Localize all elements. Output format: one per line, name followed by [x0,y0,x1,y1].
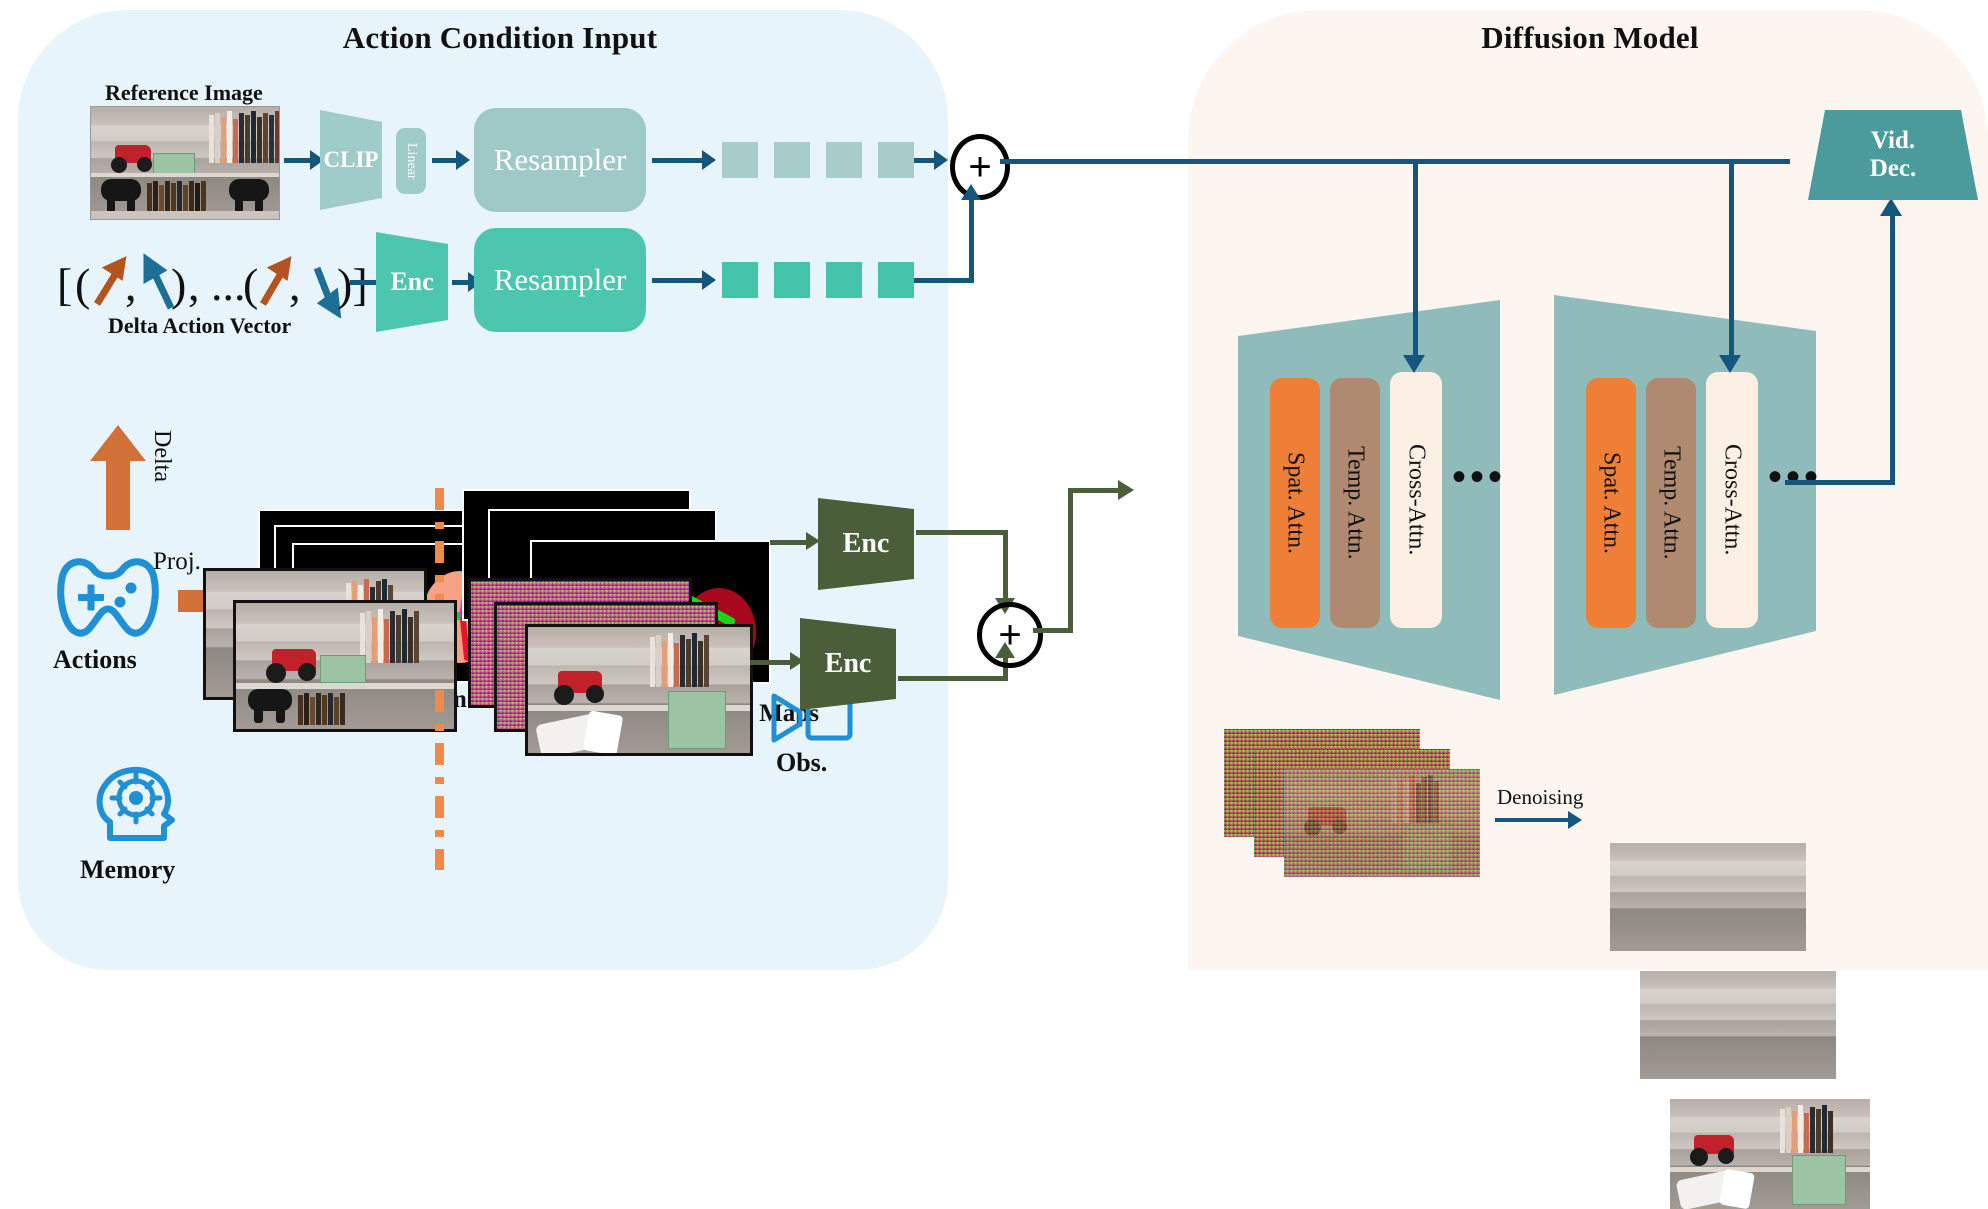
svg-text:,: , [289,259,301,310]
linear-block: Linear [396,128,426,194]
sum-to-unet-v [1068,488,1073,633]
reference-image-label: Reference Image [105,80,263,106]
delta-arrow-label: Delta [148,430,175,482]
actions-label: Actions [53,645,137,675]
arrow-raymaps-to-enc-head [806,532,820,550]
unet-to-viddec-horizontal [1785,480,1895,485]
unet-block-2-cross-attn: Cross-Attn. [1706,372,1758,628]
arrow-ref-to-clip-line [284,158,312,163]
output-robot-gripper [1719,1169,1755,1209]
denoising-arrow-line [1495,818,1571,822]
memory-icon [90,760,186,846]
image-token-3 [826,142,862,178]
delta-arrow-icon [88,425,148,530]
enc-raymaps-path-vertical [1003,530,1008,602]
spat-attn-label-2: Spat. Attn. [1598,452,1625,554]
arrow-raymaps-to-enc-line [770,540,810,545]
action-token-path-horizontal [914,278,974,283]
arrow-linear-to-resampler-line [432,158,458,163]
cond-drop-1-arrowhead [1403,355,1425,373]
enc-raymaps-block: Enc [818,498,914,590]
image-token-1 [722,142,758,178]
unet-block-1-ellipsis: ••• [1452,455,1506,500]
resampler-image-block: Resampler [474,108,646,212]
unet-block-2-ellipsis: ••• [1768,455,1822,500]
unet-block-1-cross-attn: Cross-Attn. [1390,372,1442,628]
arrow-resampler-act-to-tokens-line [652,278,704,283]
action-token-2 [774,262,810,298]
action-token-3 [826,262,862,298]
arrow-resampler-img-to-tokens-head [702,150,716,170]
reference-image-photo [90,106,280,220]
arrow-resampler-act-to-tokens-head [702,270,716,290]
gamepad-icon [48,550,168,640]
clip-label: CLIP [324,147,379,173]
denoise-input-noisy-photo [1284,769,1480,877]
svg-text:,: , [125,259,137,310]
video-decoder-block: Vid. Dec. [1808,110,1978,200]
action-encoder-block: Enc [376,232,448,332]
cond-drop-2-arrowhead [1719,355,1741,373]
panel-title-diffusion-model: Diffusion Model [1290,20,1890,56]
enc-action-label: Enc [390,267,433,297]
svg-text:(: ( [243,259,258,310]
delta-action-vector-expression: [ ( , ) , ... ( , )] [55,248,375,318]
sum-to-unet-arrowhead [1118,480,1134,500]
svg-text:(: ( [75,259,90,310]
denoising-label: Denoising [1497,785,1583,810]
enc-raymaps-path-horizontal [916,530,1008,535]
memory-photo-front [233,600,457,732]
vid-dec-line-1: Vid. [1871,127,1915,155]
arrow-resampler-img-to-tokens-line [652,158,704,163]
cond-drop-1-vertical [1413,159,1418,359]
vid-dec-line-2: Dec. [1870,155,1917,183]
denoise-output-photo-front [1670,1099,1870,1209]
enc-obs-label: Enc [825,648,872,680]
obs-label: Obs. [776,748,827,778]
cond-bus-horizontal [1000,159,1790,164]
cross-attn-label-2: Cross-Attn. [1719,444,1746,555]
memory-label: Memory [80,855,175,885]
sum-to-unet-h1 [1033,628,1073,633]
proj-label: Proj. [153,548,201,576]
svg-text:[: [ [57,259,72,310]
panel-title-action-condition-input: Action Condition Input [200,20,800,56]
unet-block-2-spat-attn: Spat. Attn. [1586,378,1636,628]
obs-photo-front [525,624,753,756]
action-token-path-arrowhead [961,184,981,200]
resampler-image-label: Resampler [494,142,627,178]
sum-node-latents: + [977,602,1043,668]
unet-to-viddec-vertical [1890,216,1895,484]
enc-raymaps-label: Enc [843,528,890,560]
delta-action-vector-svg: [ ( , ) , ... ( , )] [55,248,375,318]
arrow-vector-to-enc-line [350,280,380,285]
unet-block-1-spat-attn: Spat. Attn. [1270,378,1320,628]
denoise-output-photo-back [1610,843,1806,951]
enc-obs-block: Enc [800,618,896,710]
image-token-4 [878,142,914,178]
cross-attn-label-1: Cross-Attn. [1403,444,1430,555]
svg-text:, ...: , ... [188,259,246,310]
separator-memory-obs [435,690,444,870]
delta-action-vector-label: Delta Action Vector [108,313,291,339]
cond-drop-2-vertical [1729,159,1734,359]
unet-to-viddec-arrowhead [1880,198,1902,216]
obs-robot-gripper [583,710,623,755]
temp-attn-label-2: Temp. Attn. [1658,446,1685,560]
enc-obs-path-horizontal [898,676,1008,681]
arrow-tokens-to-plus-head [934,150,948,170]
svg-text:): ) [171,259,186,310]
denoising-arrow-head [1568,811,1582,829]
spat-attn-label-1: Spat. Attn. [1282,452,1309,554]
temp-attn-label-1: Temp. Attn. [1342,446,1369,560]
resampler-action-label: Resampler [494,262,627,298]
clip-encoder-block: CLIP [320,110,382,210]
arrow-obs-to-enc-line [750,660,794,665]
unet-block-2-temp-attn: Temp. Attn. [1646,378,1696,628]
image-token-2 [774,142,810,178]
unet-block-1-temp-attn: Temp. Attn. [1330,378,1380,628]
linear-label: Linear [403,143,419,180]
action-token-4 [878,262,914,298]
resampler-action-block: Resampler [474,228,646,332]
arrow-linear-to-resampler-head [456,150,470,170]
action-token-1 [722,262,758,298]
sum-to-unet-h2 [1068,488,1122,493]
action-token-path-vertical [969,200,974,280]
denoise-output-photo-mid [1640,971,1836,1079]
